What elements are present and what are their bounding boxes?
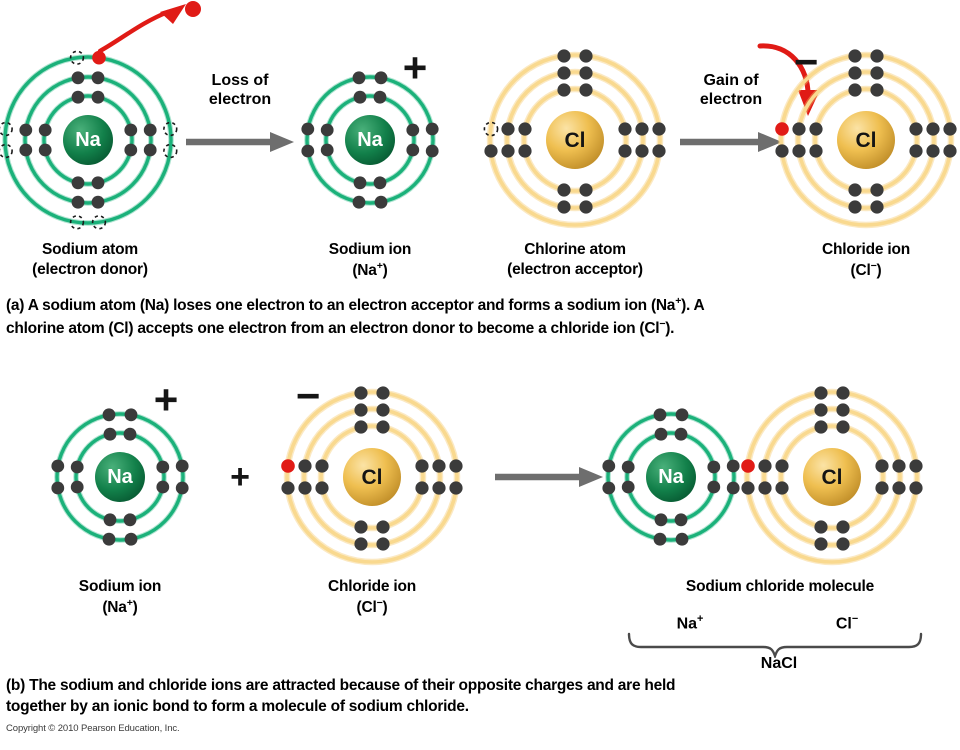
molecule-chlorine-symbol-label: Cl <box>822 466 843 489</box>
sodium-ion-b-charge-plus: + <box>154 379 179 421</box>
chlorine-symbol-label: Cl <box>565 129 586 152</box>
label-line1: Chlorine atom <box>507 240 643 260</box>
label-sodium-ion-b: Sodium ion (Na+) <box>79 577 161 618</box>
label-line2: (Cl−) <box>328 597 416 618</box>
step-label-line1: Loss of <box>209 71 271 90</box>
sodium-atom-diagram: Na <box>0 45 183 235</box>
chloride-ion-b-charge-minus: − <box>296 375 321 417</box>
electron-loss-arrow-red <box>90 0 220 64</box>
freed-electron-red <box>185 1 201 17</box>
figure-canvas: Na Loss of electron <box>0 0 960 750</box>
brace-label-na-ion: Na+ <box>677 613 704 633</box>
shared-electron-red <box>741 459 755 473</box>
chloride-symbol-label: Cl <box>856 129 877 152</box>
sodium-ion-charge-plus: + <box>403 47 428 89</box>
label-line1: Sodium ion <box>329 240 411 260</box>
caption-line2: chlorine atom (Cl) accepts one electron … <box>6 317 954 340</box>
brace-label-cl-ion: Cl− <box>836 613 858 633</box>
chlorine-atom-diagram: Cl <box>475 40 675 240</box>
molecule-sodium-part: Na <box>596 402 746 552</box>
chloride-ion-charge-minus: − <box>794 41 819 83</box>
label-sodium-chloride-molecule: Sodium chloride molecule <box>686 577 874 597</box>
step-loss-of-electron-label: Loss of electron <box>209 71 271 109</box>
transferred-electron-red <box>775 122 789 136</box>
arrow-right-gray-1 <box>186 131 296 153</box>
label-line1: Sodium ion <box>79 577 161 597</box>
transferred-electron-red-b <box>281 459 295 473</box>
label-line1: Sodium atom <box>32 240 148 260</box>
label-chloride-ion: Chloride ion (Cl−) <box>822 240 910 281</box>
plus-operator: + <box>230 460 250 494</box>
molecule-sodium-symbol-label: Na <box>658 466 684 488</box>
molecule-chlorine-part: Cl <box>732 377 932 577</box>
label-line2: (electron donor) <box>32 260 148 280</box>
label-line1: Sodium chloride molecule <box>686 577 874 597</box>
sodium-ion-symbol-label: Na <box>357 129 383 151</box>
label-line1: Chloride ion <box>822 240 910 260</box>
panel-a-caption: (a) A sodium atom (Na) loses one electro… <box>6 294 954 340</box>
label-line2: (electron acceptor) <box>507 260 643 280</box>
label-chloride-ion-b: Chloride ion (Cl−) <box>328 577 416 618</box>
caption-line1: (a) A sodium atom (Na) loses one electro… <box>6 294 954 317</box>
label-line2: (Na+) <box>329 260 411 281</box>
caption-line1: (b) The sodium and chloride ions are att… <box>6 676 954 697</box>
sodium-symbol-label: Na <box>75 129 101 151</box>
arrow-right-gray-3 <box>495 466 605 488</box>
label-sodium-atom: Sodium atom (electron donor) <box>32 240 148 280</box>
step-label-line2: electron <box>209 90 271 109</box>
panel-b-caption: (b) The sodium and chloride ions are att… <box>6 676 954 717</box>
panel-b-tag: (b) <box>6 677 25 694</box>
label-sodium-ion: Sodium ion (Na+) <box>329 240 411 281</box>
panel-a-tag: (a) <box>6 297 24 314</box>
label-line2: (Na+) <box>79 597 161 618</box>
label-chlorine-atom: Chlorine atom (electron acceptor) <box>507 240 643 280</box>
label-line1: Chloride ion <box>328 577 416 597</box>
chloride-ion-b-symbol-label: Cl <box>362 466 383 489</box>
nacl-formula-label: NaCl <box>761 655 797 673</box>
caption-line2: together by an ionic bond to form a mole… <box>6 697 954 718</box>
label-line2: (Cl−) <box>822 260 910 281</box>
sodium-ion-b-diagram: Na <box>45 402 195 552</box>
sodium-ion-b-symbol-label: Na <box>107 466 133 488</box>
copyright-notice: Copyright © 2010 Pearson Education, Inc. <box>6 723 180 734</box>
